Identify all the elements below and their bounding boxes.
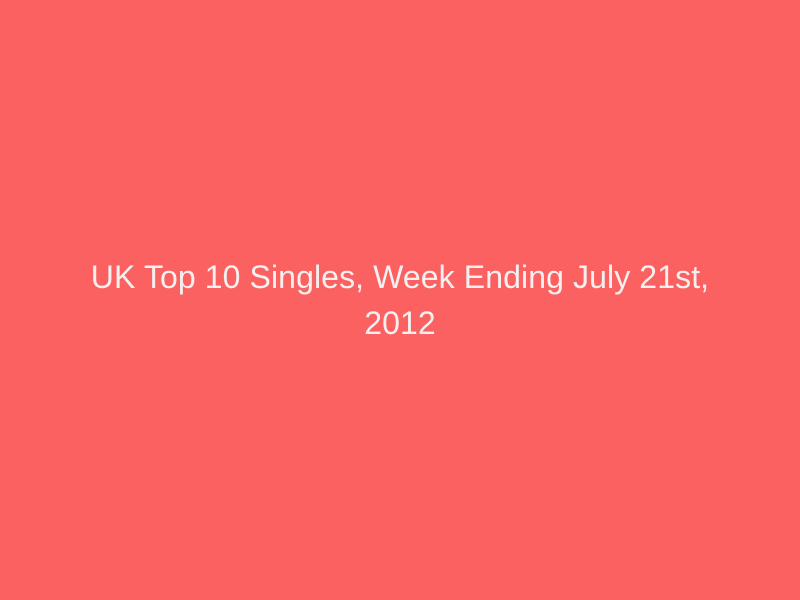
page-title: UK Top 10 Singles, Week Ending July 21st… [80, 254, 720, 346]
title-block: UK Top 10 Singles, Week Ending July 21st… [80, 254, 720, 346]
poster-canvas: UK Top 10 Singles, Week Ending July 21st… [0, 0, 800, 600]
